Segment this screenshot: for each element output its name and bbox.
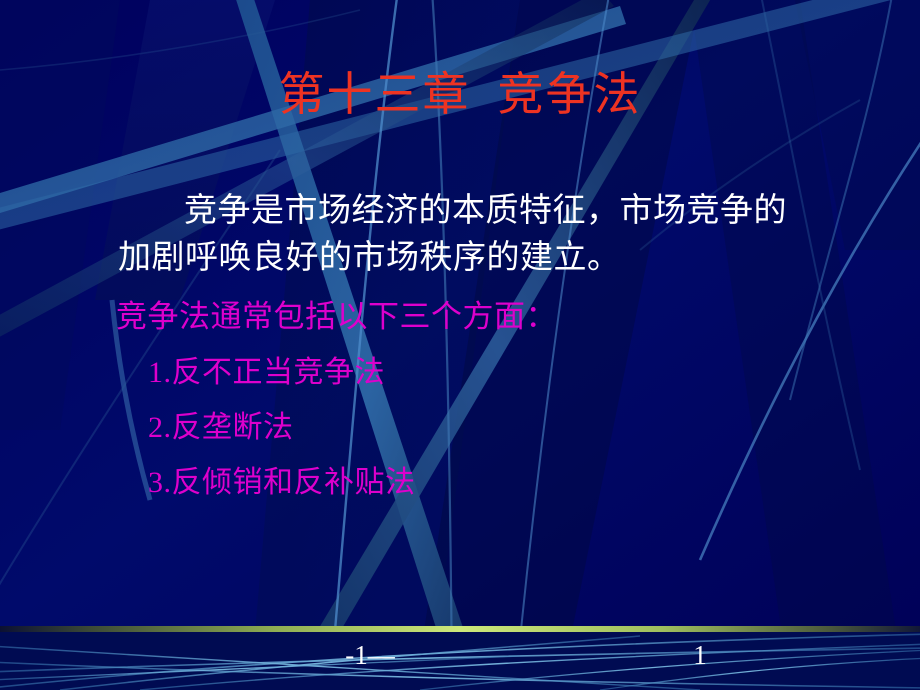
body-paragraph: 竞争是市场经济的本质特征，市场竞争的加剧呼唤良好的市场秩序的建立。 <box>118 188 818 282</box>
presentation-slide: 第十三章 竞争法 竞争是市场经济的本质特征，市场竞争的加剧呼唤良好的市场秩序的建… <box>0 0 920 690</box>
slide-content: 第十三章 竞争法 竞争是市场经济的本质特征，市场竞争的加剧呼唤良好的市场秩序的建… <box>0 0 920 690</box>
page-number: 1 <box>660 640 740 671</box>
page-title: 第十三章 竞争法 <box>0 66 920 124</box>
list-item: 3.反倾销和反补贴法 <box>148 464 416 502</box>
list-item: 1.反不正当竞争法 <box>148 354 385 392</box>
list-heading: 竞争法通常包括以下三个方面： <box>116 297 557 337</box>
list-item: 2.反垄断法 <box>148 409 294 447</box>
footer-slide-marker: -1— <box>0 640 740 671</box>
